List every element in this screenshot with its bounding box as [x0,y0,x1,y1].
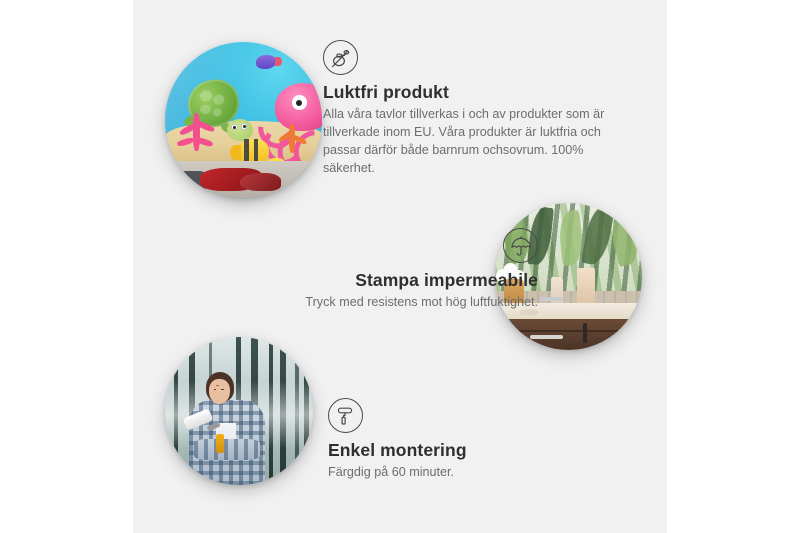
underwater-cartoon-mural-photo[interactable] [165,42,322,199]
feature-block-odourless: Luktfri produkt Alla våra tavlor tillver… [323,40,623,178]
folded-arms [194,439,260,460]
wooden-vanity [495,319,642,350]
purple-fish-icon [256,55,276,69]
paint-roller-icon [328,398,363,433]
woman-painter [186,370,269,485]
feature-title: Stampa impermeabile [193,270,538,290]
feature-block-waterproof-print: Stampa impermeabile Tryck med resistens … [193,228,538,312]
painter-forest-wallpaper-photo[interactable] [165,337,313,485]
orange-coral-icon [275,121,313,162]
feature-description: Alla våra tavlor tillverkas i och av pro… [323,106,623,178]
paint-roller-grip [216,434,224,452]
feature-title: Enkel montering [328,440,558,460]
no-fragrance-icon [323,40,358,75]
feature-description: Tryck med resistens mot hög luftfuktighe… [193,294,538,312]
feature-description: Färgdig på 60 minuter. [328,464,558,482]
forest-scene [165,337,313,485]
umbrella-icon [503,228,538,263]
turtle-head [227,119,253,141]
underwater-scene [165,42,322,199]
faucet [539,297,563,301]
feature-title: Luktfri produkt [323,82,623,102]
screenshot-root: Luktfri produkt Alla våra tavlor tillver… [0,0,800,533]
lower-photo-strip [165,161,322,199]
pink-coral-icon [174,108,221,161]
feature-block-easy-assembly: Enkel montering Färgdig på 60 minuter. [328,398,558,482]
content-panel: Luktfri produkt Alla våra tavlor tillver… [133,0,667,533]
